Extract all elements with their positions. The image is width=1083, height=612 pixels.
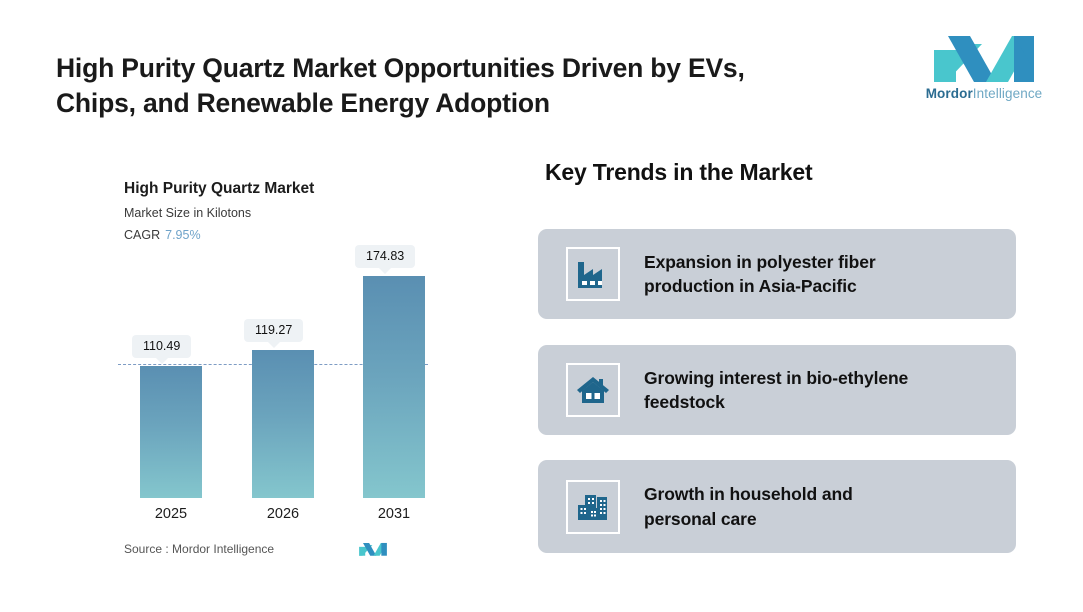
trend-card-1-line-1: Expansion in polyester fiber <box>644 252 876 272</box>
brand-wordmark: MordorIntelligence <box>923 86 1045 101</box>
chart-plot-area: 110.49 119.27 174.83 <box>118 256 428 498</box>
page-title-line-2: Chips, and Renewable Energy Adoption <box>56 86 856 121</box>
trend-card-3-text: Growth in household and personal care <box>644 482 853 530</box>
house-icon-glyph <box>576 375 610 405</box>
cagr-label: CAGR <box>124 228 160 242</box>
city-buildings-icon-glyph <box>576 492 610 522</box>
trend-card-1-text: Expansion in polyester fiber production … <box>644 250 876 298</box>
trend-card-1[interactable]: Expansion in polyester fiber production … <box>538 229 1016 319</box>
slide-canvas: High Purity Quartz Market Opportunities … <box>0 0 1083 612</box>
page-title: High Purity Quartz Market Opportunities … <box>56 51 856 121</box>
trend-card-1-line-2: production in Asia-Pacific <box>644 276 857 296</box>
chart-panel: High Purity Quartz Market Market Size in… <box>0 168 500 568</box>
mordor-intelligence-logo-mark <box>930 30 1038 82</box>
brand-word-light: Intelligence <box>973 86 1043 101</box>
bar-2026 <box>252 350 314 498</box>
bar-2025 <box>140 366 202 498</box>
trend-card-2-line-2: feedstock <box>644 392 725 412</box>
bar-2031 <box>363 276 425 498</box>
chart-source-text: Source : Mordor Intelligence <box>124 542 274 556</box>
city-buildings-icon <box>566 480 620 534</box>
brand-logo: MordorIntelligence <box>923 30 1045 101</box>
trend-card-3-line-1: Growth in household and <box>644 484 853 504</box>
chart-subtitle: Market Size in Kilotons <box>124 206 251 220</box>
trend-card-3-line-2: personal care <box>644 509 757 529</box>
bar-label-2031: 174.83 <box>355 245 415 268</box>
cagr-value: 7.95% <box>165 228 200 242</box>
trend-card-2-line-1: Growing interest in bio-ethylene <box>644 368 908 388</box>
x-tick-2026: 2026 <box>252 506 314 522</box>
chart-x-axis-labels: 2025 2026 2031 <box>118 506 428 528</box>
brand-word-bold: Mordor <box>926 86 973 101</box>
x-tick-2031: 2031 <box>363 506 425 522</box>
trend-card-3[interactable]: Growth in household and personal care <box>538 460 1016 553</box>
chart-title: High Purity Quartz Market <box>124 180 314 198</box>
mordor-intelligence-logo-mark-small <box>358 540 388 557</box>
chart-cagr: CAGR7.95% <box>124 228 201 242</box>
page-title-line-1: High Purity Quartz Market Opportunities … <box>56 51 856 86</box>
bar-label-2025: 110.49 <box>132 335 191 358</box>
x-tick-2025: 2025 <box>140 506 202 522</box>
factory-icon <box>566 247 620 301</box>
chart-source-row: Source : Mordor Intelligence <box>124 540 424 557</box>
trends-heading: Key Trends in the Market <box>545 159 812 186</box>
trend-card-2-text: Growing interest in bio-ethylene feedsto… <box>644 366 908 414</box>
bar-label-2026: 119.27 <box>244 319 303 342</box>
trend-card-2[interactable]: Growing interest in bio-ethylene feedsto… <box>538 345 1016 435</box>
factory-icon-glyph <box>576 259 610 289</box>
house-icon <box>566 363 620 417</box>
